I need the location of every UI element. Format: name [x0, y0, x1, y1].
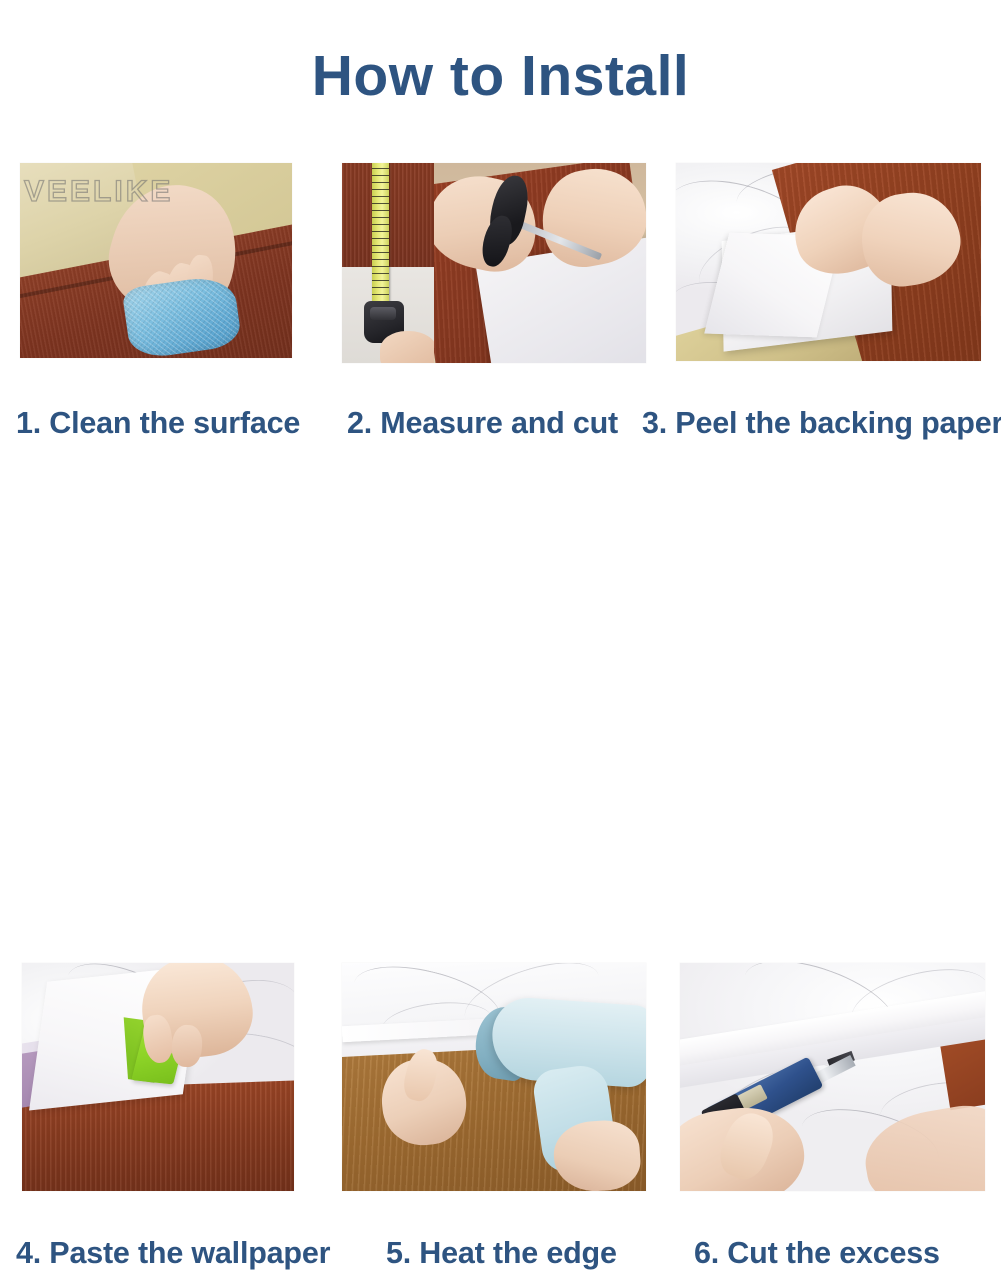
steps-row-bottom: 4. Paste the wallpaper 5. Heat the edge …	[0, 563, 1001, 893]
step-2	[342, 163, 646, 363]
tape-ticks	[372, 163, 389, 309]
step-5	[342, 963, 646, 1191]
step-3-photo	[676, 163, 981, 361]
step-3	[676, 163, 981, 361]
steps-grid: VEELIKE	[0, 163, 1001, 893]
step-2-caption: 2. Measure and cut	[347, 406, 618, 441]
step-5-photo	[342, 963, 646, 1191]
step-6-photo	[680, 963, 985, 1191]
step-4-photo	[22, 963, 294, 1191]
hand	[380, 331, 434, 363]
veelike-watermark: VEELIKE	[24, 175, 173, 209]
step-6-caption: 6. Cut the excess	[694, 1236, 940, 1271]
measuring-scene	[342, 163, 434, 363]
step-6	[680, 963, 985, 1191]
step-5-caption: 5. Heat the edge	[386, 1236, 617, 1271]
step-2-photo	[342, 163, 646, 363]
step-1: VEELIKE	[20, 163, 292, 358]
step-4-caption: 4. Paste the wallpaper	[16, 1236, 330, 1271]
tape-measure-blade	[372, 163, 389, 309]
step-1-caption: 1. Clean the surface	[16, 406, 300, 441]
cutting-scene	[434, 163, 646, 363]
step-4	[22, 963, 294, 1191]
step-3-caption: 3. Peel the backing paper	[642, 406, 1001, 441]
page-title: How to Install	[0, 48, 1001, 105]
step-1-photo: VEELIKE	[20, 163, 292, 358]
steps-row-top: VEELIKE	[0, 163, 1001, 563]
